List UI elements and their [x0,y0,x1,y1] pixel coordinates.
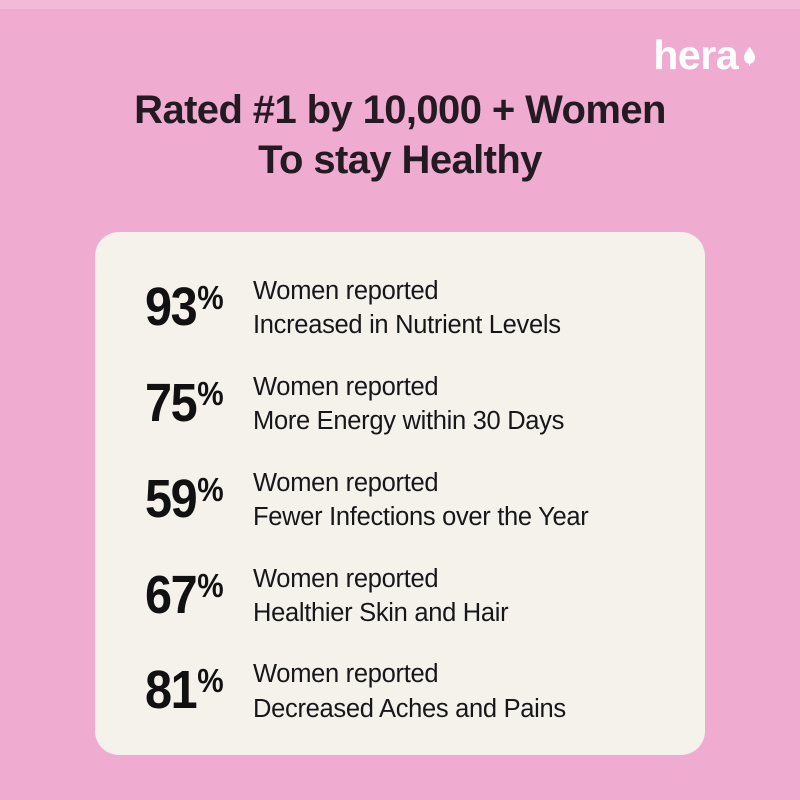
stats-card: 93% Women reported Increased in Nutrient… [95,232,705,755]
stat-description-line-2: More Energy within 30 Days [253,404,705,438]
promo-poster: hera Rated #1 by 10,000 + Women To stay … [0,0,800,800]
headline-line-2: To stay Healthy [95,136,705,186]
stat-number: 81 [145,663,196,717]
top-edge-strip [0,0,800,9]
list-item: 81% Women reported Decreased Aches and P… [95,657,705,726]
stat-percentage: 93% [145,274,242,334]
stat-description: Women reported Healthier Skin and Hair [253,562,705,631]
stat-description-line-1: Women reported [253,466,705,500]
stat-description-line-1: Women reported [253,274,705,308]
percent-sign: % [197,281,223,314]
percent-sign: % [197,377,223,410]
stat-description-line-1: Women reported [253,562,705,596]
list-item: 93% Women reported Increased in Nutrient… [95,274,705,343]
stat-description: Women reported More Energy within 30 Day… [253,370,705,439]
stats-list: 93% Women reported Increased in Nutrient… [95,274,705,726]
stat-description-line-2: Decreased Aches and Pains [253,692,705,726]
leaf-drop-icon [743,47,756,71]
stat-percentage: 81% [145,657,242,717]
stat-number: 93 [145,280,196,334]
list-item: 67% Women reported Healthier Skin and Ha… [95,562,705,631]
list-item: 75% Women reported More Energy within 30… [95,370,705,439]
stat-description-line-2: Fewer Infections over the Year [253,500,705,534]
stat-percentage: 75% [145,370,242,430]
stat-percentage: 59% [145,466,242,526]
stat-description-line-2: Increased in Nutrient Levels [253,308,705,342]
stat-description-line-2: Healthier Skin and Hair [253,596,705,630]
page-title: Rated #1 by 10,000 + Women To stay Healt… [95,86,705,185]
stat-description-line-1: Women reported [253,657,705,691]
stat-percentage: 67% [145,562,242,622]
stat-description: Women reported Fewer Infections over the… [253,466,705,535]
stat-number: 67 [145,568,196,622]
stat-description-line-1: Women reported [253,370,705,404]
brand-logo-text: hera [653,36,738,75]
stat-number: 75 [145,376,196,430]
headline-line-1: Rated #1 by 10,000 + Women [95,86,705,136]
percent-sign: % [197,664,223,697]
percent-sign: % [197,473,223,506]
stat-description: Women reported Decreased Aches and Pains [253,657,705,726]
stat-number: 59 [145,472,196,526]
brand-logo: hera [653,36,756,75]
percent-sign: % [197,569,223,602]
list-item: 59% Women reported Fewer Infections over… [95,466,705,535]
stat-description: Women reported Increased in Nutrient Lev… [253,274,705,343]
